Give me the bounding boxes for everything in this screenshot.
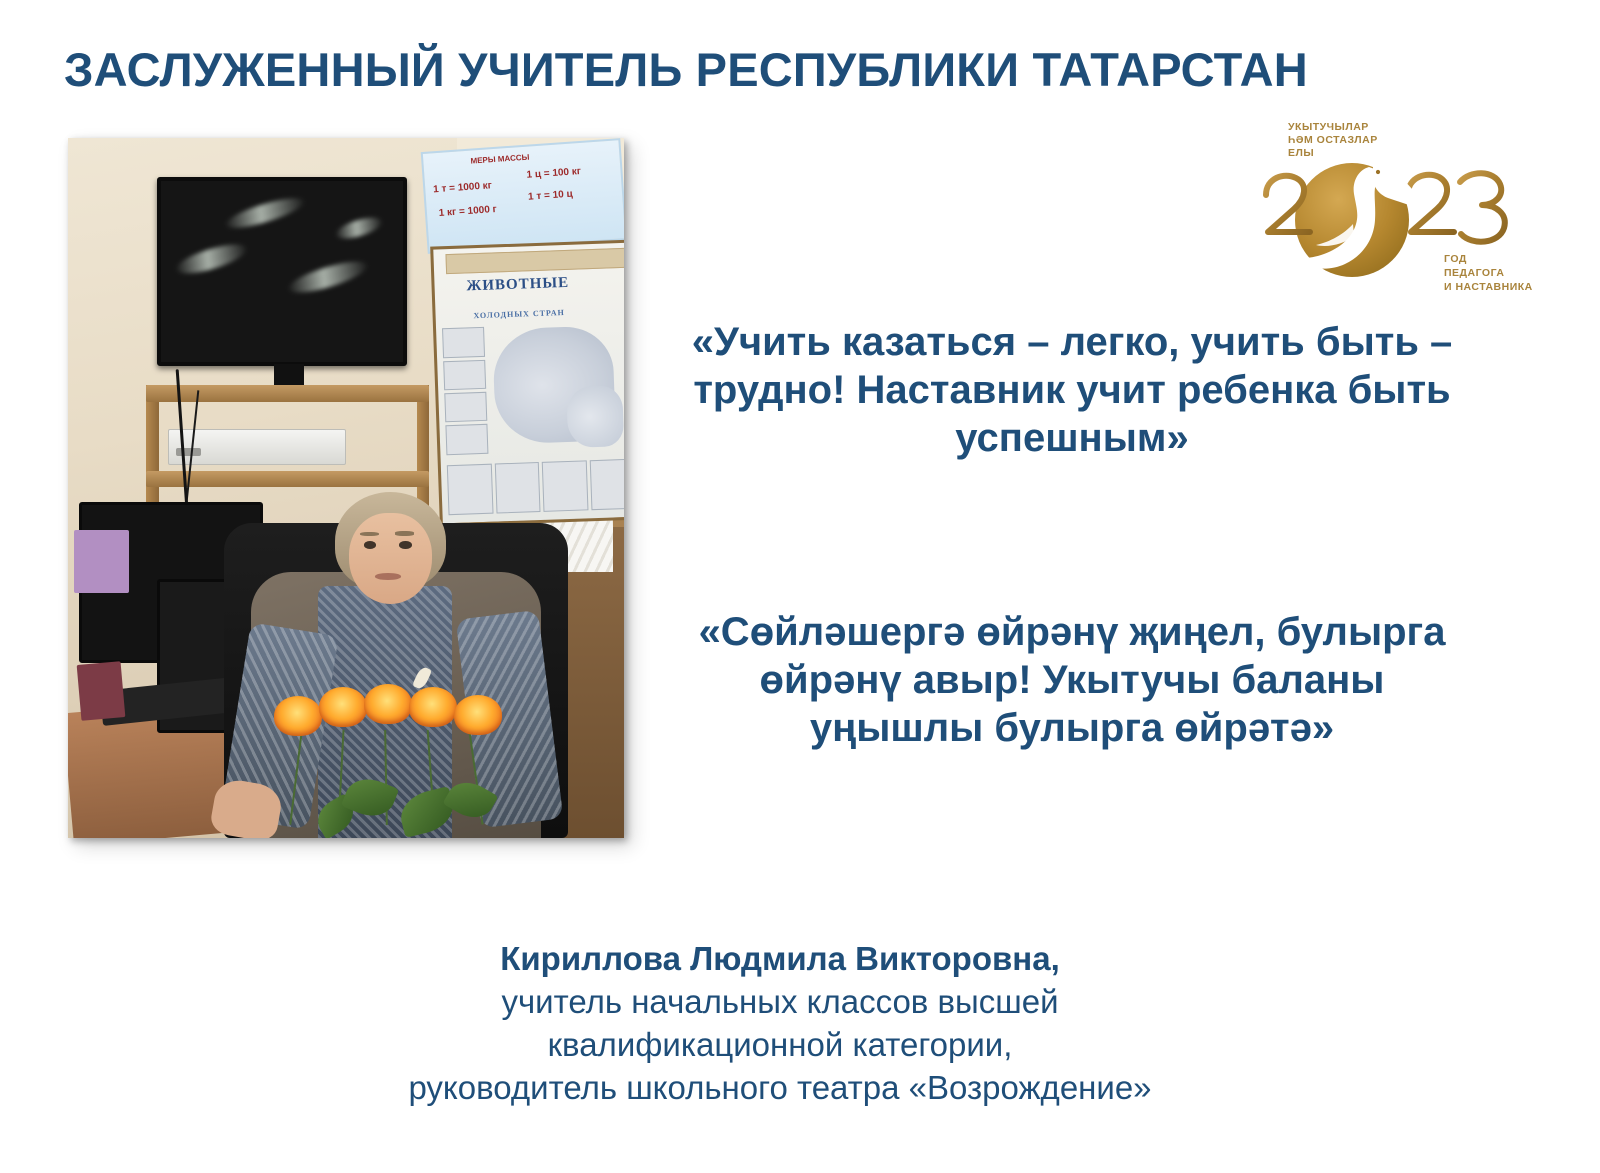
rose-bloom xyxy=(319,687,367,727)
poster-measures-line4: 1 т = 10 ц xyxy=(528,188,573,202)
logo-tatar-line1: УКЫТУЧЫЛАР xyxy=(1288,121,1369,133)
desk-object-red xyxy=(77,661,126,721)
teacher-mouth xyxy=(375,573,401,579)
polar-bear-cub-illustration xyxy=(566,386,624,448)
poster-animals-subtitle: ХОЛОДНЫХ СТРАН xyxy=(473,308,565,320)
rose-bloom xyxy=(454,695,502,735)
page-title: ЗАСЛУЖЕННЫЙ УЧИТЕЛЬ РЕСПУБЛИКИ ТАТАРСТАН xyxy=(64,44,1444,96)
wooden-shelf-top xyxy=(146,385,430,402)
wall-mounted-tv xyxy=(157,177,407,366)
rose-bloom xyxy=(364,684,412,724)
teacher-role-line-2: квалификационной категории, xyxy=(300,1024,1260,1067)
desk-object-violet xyxy=(74,530,130,593)
poster-animals-title: ЖИВОТНЫЕ xyxy=(466,275,569,296)
teacher-photo: МЕРЫ МАССЫ 1 т = 1000 кг 1 ц = 100 кг 1 … xyxy=(68,138,624,838)
teacher-eyebrow-right xyxy=(395,531,414,535)
poster-measures-line1: 1 т = 1000 кг xyxy=(433,180,492,195)
poster-animals-banner xyxy=(445,248,624,273)
rose-bloom xyxy=(409,687,457,727)
poster-measures-line2: 1 ц = 100 кг xyxy=(526,166,581,181)
poster-animals-side-thumbs xyxy=(442,327,488,454)
slide-root: ЗАСЛУЖЕННЫЙ УЧИТЕЛЬ РЕСПУБЛИКИ ТАТАРСТАН… xyxy=(0,0,1600,1173)
teacher-caption: Кириллова Людмила Викторовна, учитель на… xyxy=(300,938,1260,1110)
poster-measures-header: МЕРЫ МАССЫ xyxy=(470,152,530,165)
quote-tatar: «Сөйләшергә өйрәнү җиңел, булырга өйрәнү… xyxy=(672,608,1472,752)
dvd-player xyxy=(168,429,346,465)
logo-tatar-line3: ЕЛЫ xyxy=(1288,147,1314,159)
teacher-name: Кириллова Людмила Викторовна, xyxy=(300,938,1260,981)
teacher-eye-left xyxy=(364,541,376,549)
poster-animals: ЖИВОТНЫЕ ХОЛОДНЫХ СТРАН xyxy=(430,239,624,526)
teacher-eye-right xyxy=(399,541,411,549)
logo-tatar-line2: ҺӘМ ОСТАЗЛАР xyxy=(1288,134,1378,146)
photo-canvas: МЕРЫ МАССЫ 1 т = 1000 кг 1 ц = 100 кг 1 … xyxy=(68,138,624,838)
poster-animals-bottom-thumbs xyxy=(447,459,624,515)
rose-bloom xyxy=(274,696,322,736)
teacher-role-line-3: руководитель школьного театра «Возрожден… xyxy=(300,1067,1260,1110)
poster-measures: МЕРЫ МАССЫ 1 т = 1000 кг 1 ц = 100 кг 1 … xyxy=(421,138,624,253)
teacher-role-line-1: учитель начальных классов высшей xyxy=(300,981,1260,1024)
teacher-face xyxy=(349,513,432,604)
logo-russian-line3: И НАСТАВНИКА xyxy=(1444,281,1532,293)
quote-russian: «Учить казаться – легко, учить быть – тр… xyxy=(672,318,1472,462)
rose-bouquet xyxy=(268,684,568,838)
logo-russian-line1: ГОД xyxy=(1444,253,1467,265)
logo-russian-line2: ПЕДАГОГА xyxy=(1444,267,1504,279)
poster-measures-line3: 1 кг = 1000 г xyxy=(438,204,497,219)
logo-digit-3 xyxy=(1460,173,1505,241)
year-2023-logo: УКЫТУЧЫЛАР ҺӘМ ОСТАЗЛАР ЕЛЫ ГОД ПЕДАГОГА… xyxy=(1232,112,1532,312)
